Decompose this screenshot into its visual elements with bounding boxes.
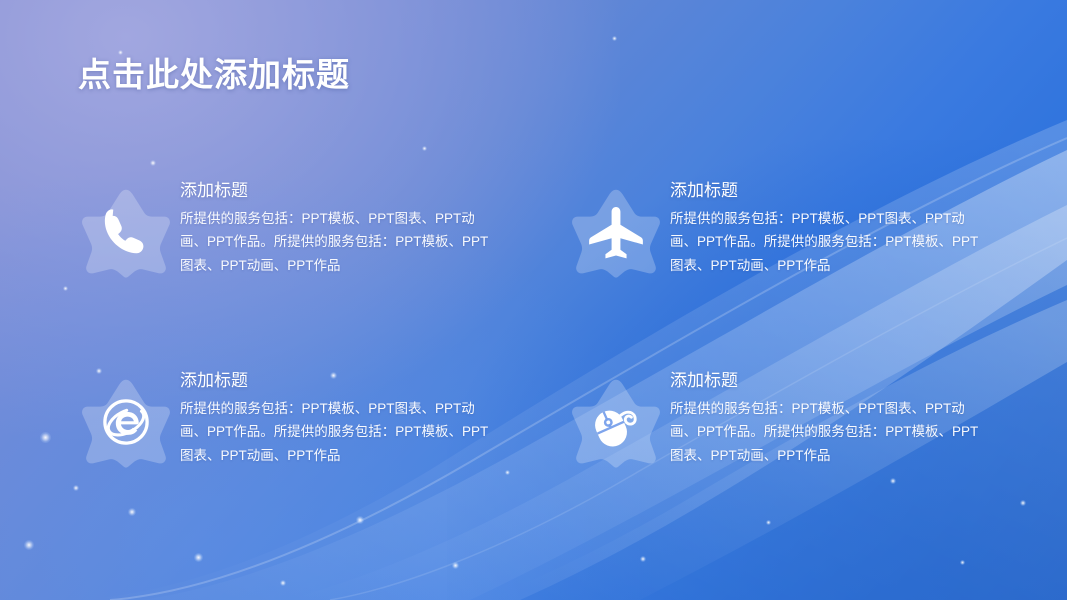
presentation-slide: 点击此处添加标题 添加标题 所提供的服务包括：PPT模板、PPT图表、PPT动画… <box>0 0 1067 600</box>
block-body-1: 所提供的服务包括：PPT模板、PPT图表、PPT动画、PPT作品。所提供的服务包… <box>180 207 498 277</box>
block-heading-4: 添加标题 <box>670 370 998 392</box>
bokeh-particle <box>280 580 286 586</box>
bokeh-particle <box>194 553 203 562</box>
airplane-icon <box>568 184 664 280</box>
internet-explorer-icon <box>78 374 174 470</box>
content-block-3[interactable]: 添加标题 所提供的服务包括：PPT模板、PPT图表、PPT动画、PPT作品。所提… <box>78 368 508 470</box>
block-text-4: 添加标题 所提供的服务包括：PPT模板、PPT图表、PPT动画、PPT作品。所提… <box>670 368 998 467</box>
badge-pentagon-3 <box>78 374 174 470</box>
bokeh-particle <box>73 485 79 491</box>
phone-icon <box>78 184 174 280</box>
block-text-3: 添加标题 所提供的服务包括：PPT模板、PPT图表、PPT动画、PPT作品。所提… <box>180 368 508 467</box>
bokeh-particle <box>505 470 510 475</box>
content-block-2[interactable]: 添加标题 所提供的服务包括：PPT模板、PPT图表、PPT动画、PPT作品。所提… <box>568 178 998 280</box>
bokeh-particle <box>612 36 617 41</box>
block-text-2: 添加标题 所提供的服务包括：PPT模板、PPT图表、PPT动画、PPT作品。所提… <box>670 178 998 277</box>
block-body-3: 所提供的服务包括：PPT模板、PPT图表、PPT动画、PPT作品。所提供的服务包… <box>180 397 498 467</box>
block-body-4: 所提供的服务包括：PPT模板、PPT图表、PPT动画、PPT作品。所提供的服务包… <box>670 397 988 467</box>
block-text-1: 添加标题 所提供的服务包括：PPT模板、PPT图表、PPT动画、PPT作品。所提… <box>180 178 508 277</box>
badge-pentagon-4 <box>568 374 664 470</box>
bokeh-particle <box>766 520 771 525</box>
bokeh-particle <box>960 560 965 565</box>
block-body-2: 所提供的服务包括：PPT模板、PPT图表、PPT动画、PPT作品。所提供的服务包… <box>670 207 988 277</box>
block-heading-1: 添加标题 <box>180 180 508 202</box>
bokeh-particle <box>422 146 427 151</box>
badge-pentagon-1 <box>78 184 174 280</box>
page-title: 点击此处添加标题 <box>78 48 350 96</box>
bokeh-particle <box>24 540 34 550</box>
badge-pentagon-2 <box>568 184 664 280</box>
bokeh-particle <box>356 516 364 524</box>
bokeh-particle <box>63 286 68 291</box>
bokeh-particle <box>128 508 136 516</box>
bokeh-particle <box>640 556 646 562</box>
bokeh-particle <box>452 562 459 569</box>
block-heading-3: 添加标题 <box>180 370 508 392</box>
bokeh-particle <box>40 432 51 443</box>
content-block-4[interactable]: 添加标题 所提供的服务包括：PPT模板、PPT图表、PPT动画、PPT作品。所提… <box>568 368 998 470</box>
bokeh-particle <box>1020 500 1026 506</box>
bokeh-particle <box>890 478 896 484</box>
content-block-1[interactable]: 添加标题 所提供的服务包括：PPT模板、PPT图表、PPT动画、PPT作品。所提… <box>78 178 508 280</box>
bokeh-particle <box>150 160 156 166</box>
block-heading-2: 添加标题 <box>670 180 998 202</box>
computer-mouse-icon <box>568 374 664 470</box>
